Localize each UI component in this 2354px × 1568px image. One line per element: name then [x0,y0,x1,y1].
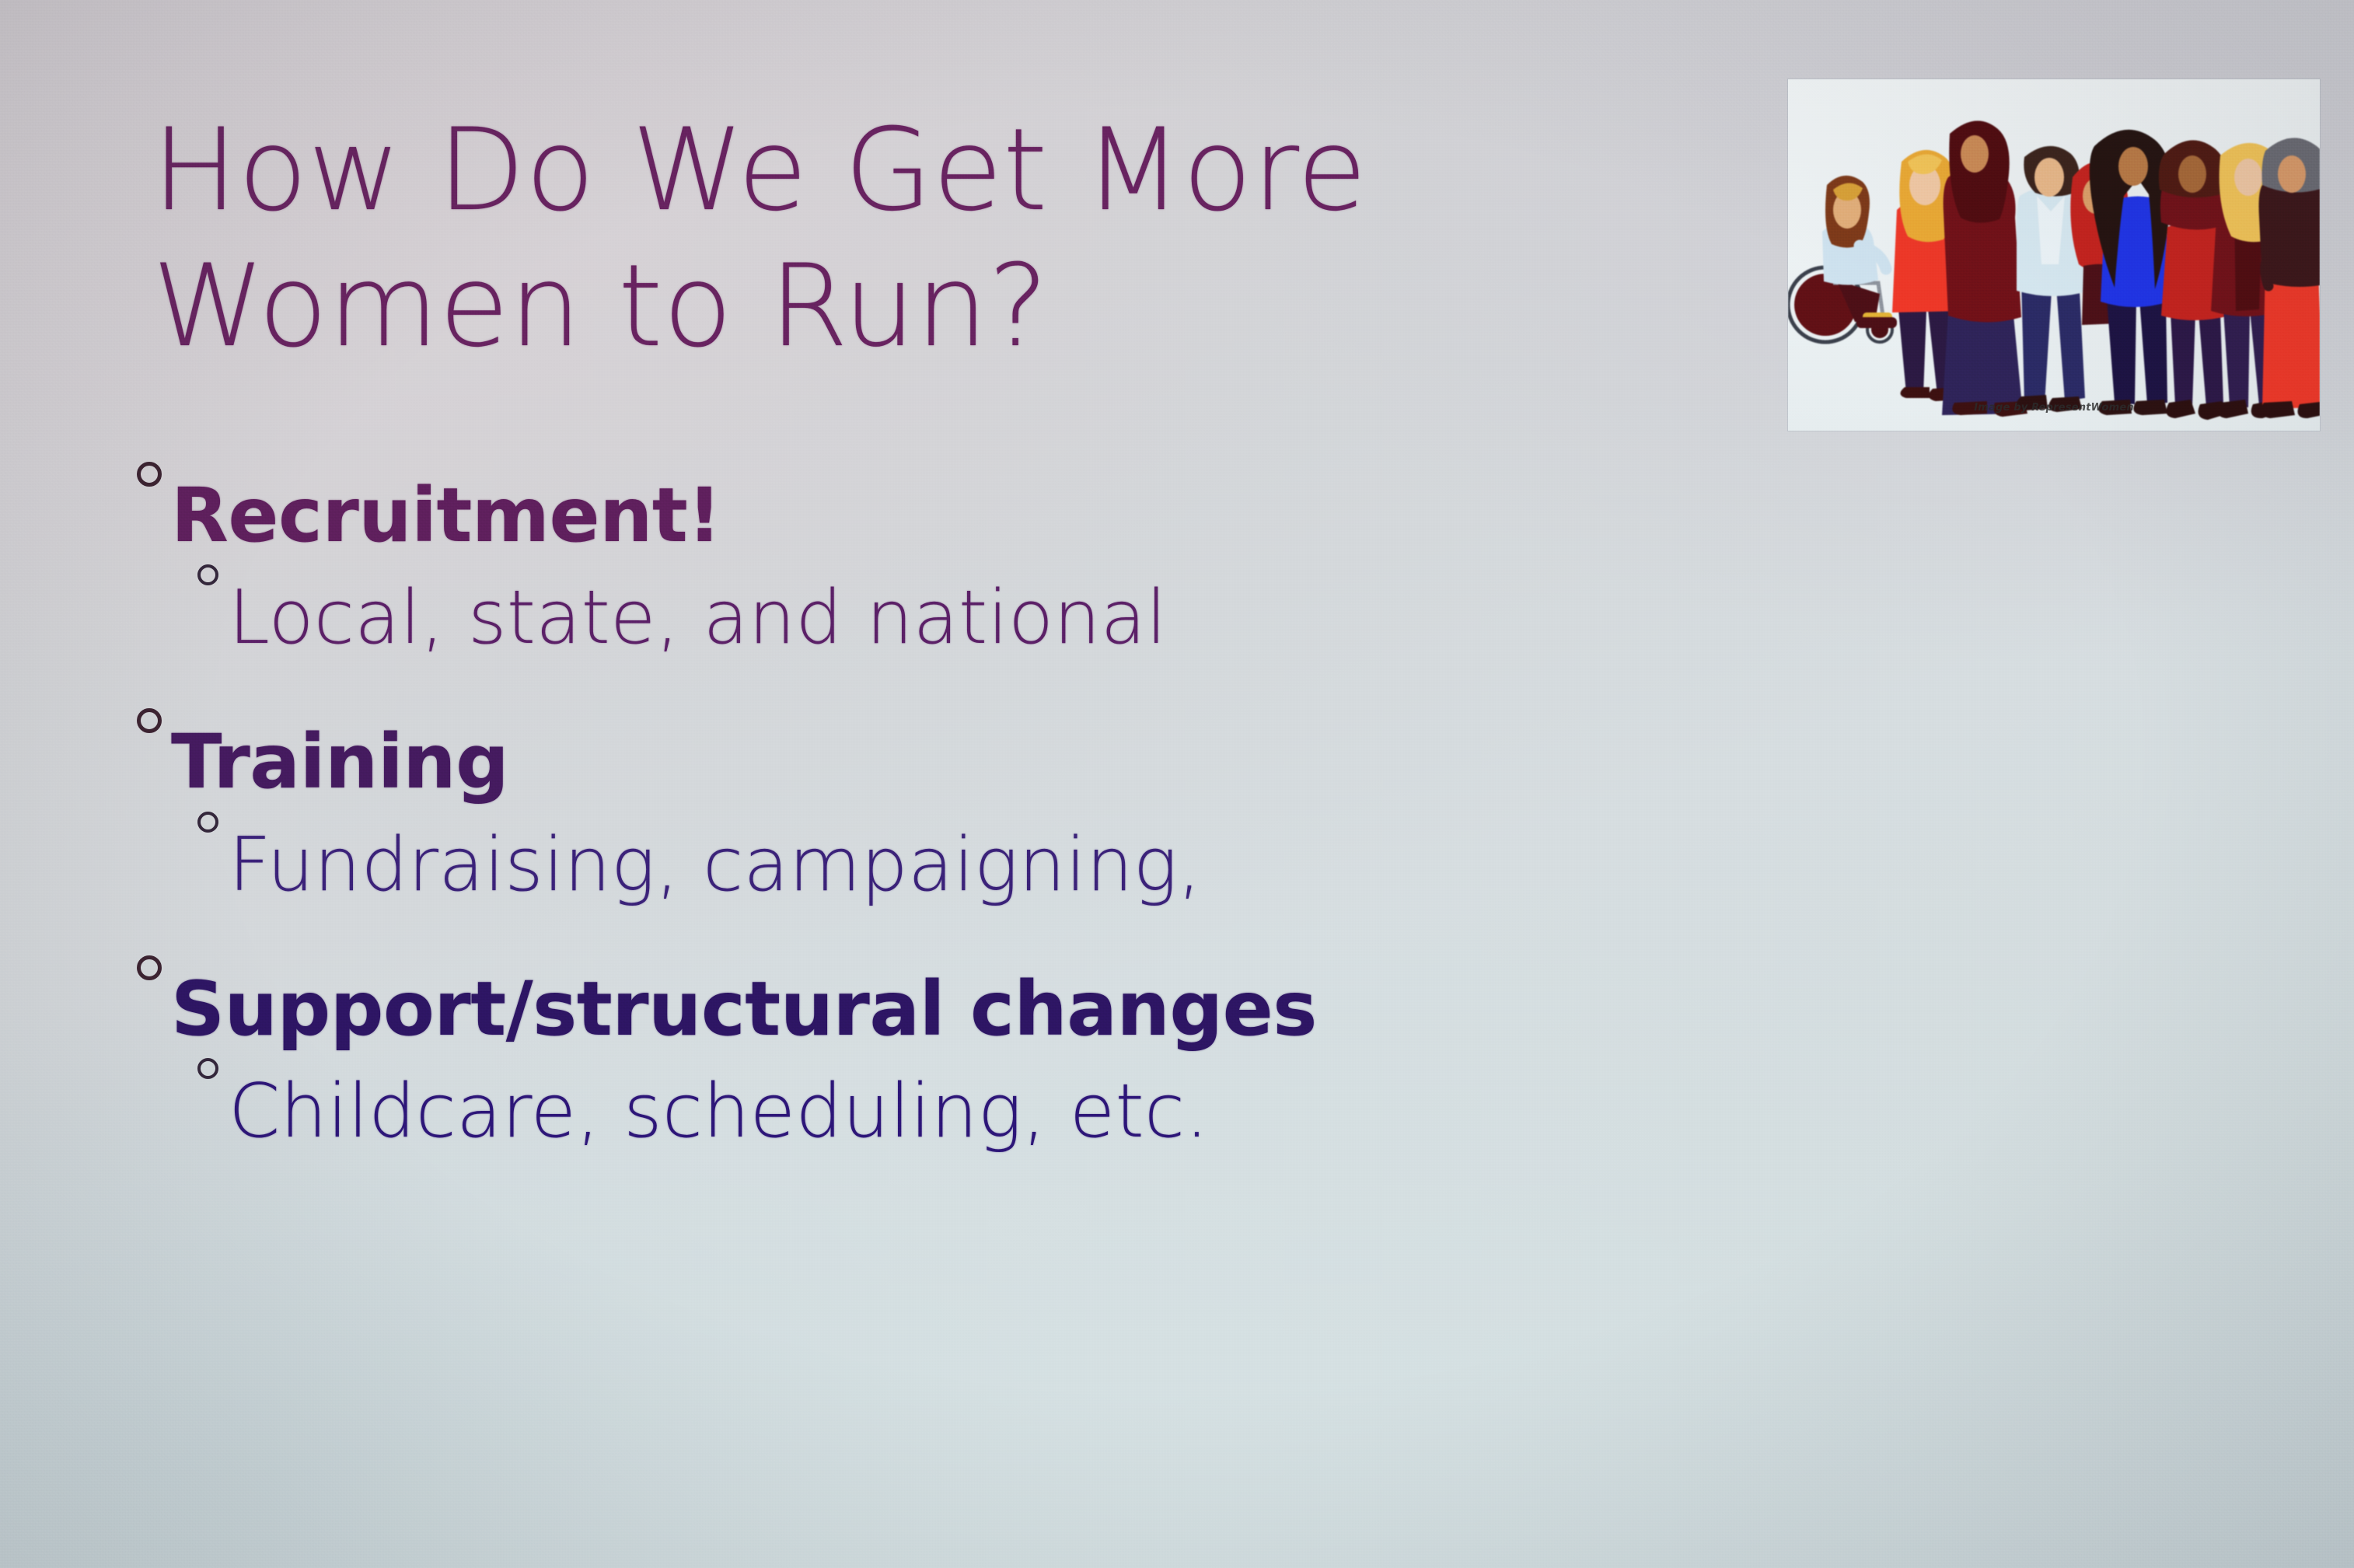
bullet-block-recruitment: Recruitment! Local, state, and national [137,466,1692,662]
bullet-block-support: Support/structural changes Childcare, sc… [137,960,1692,1155]
hollow-circle-bullet-icon [197,816,229,890]
slide-title: How Do We Get More Women to Run? [152,103,1629,375]
bullet-item-level1: Training [137,713,1692,806]
bullet-text-level1: Training [171,718,508,806]
group-of-diverse-women-illustration [1788,79,2320,431]
presentation-slide: How Do We Get More Women to Run? Recruit… [0,0,2354,1568]
hollow-circle-bullet-icon [137,960,171,1035]
slide-image-card: Image by RepresentWomen [1788,79,2320,431]
hollow-circle-bullet-icon [137,466,171,541]
bullet-text-level1: Support/structural changes [171,966,1317,1053]
hollow-circle-bullet-icon [197,569,229,643]
bullet-text-level2: Childcare, scheduling, etc. [229,1068,1209,1155]
figure-wheelchair-user [1788,176,1897,342]
hollow-circle-bullet-icon [197,1063,229,1137]
figure-maroon-dress [1942,120,2027,417]
bullet-item-level1: Support/structural changes [137,960,1692,1053]
image-caption: Image by RepresentWomen [1788,402,2320,414]
bullet-text-level2: Fundraising, campaigning, [229,822,1201,909]
bullet-text-level2: Local, state, and national [229,574,1167,662]
bullet-item-level2: Childcare, scheduling, etc. [197,1063,1692,1155]
bullet-text-level1: Recruitment! [171,472,721,560]
bullet-item-level2: Fundraising, campaigning, [197,816,1692,909]
bullet-block-training: Training Fundraising, campaigning, [137,713,1692,908]
bullet-item-level2: Local, state, and national [197,569,1692,662]
bullet-list: Recruitment! Local, state, and national … [137,466,1692,1155]
figure-red-trousers [2259,138,2321,418]
hollow-circle-bullet-icon [137,713,171,787]
bullet-item-level1: Recruitment! [137,466,1692,560]
